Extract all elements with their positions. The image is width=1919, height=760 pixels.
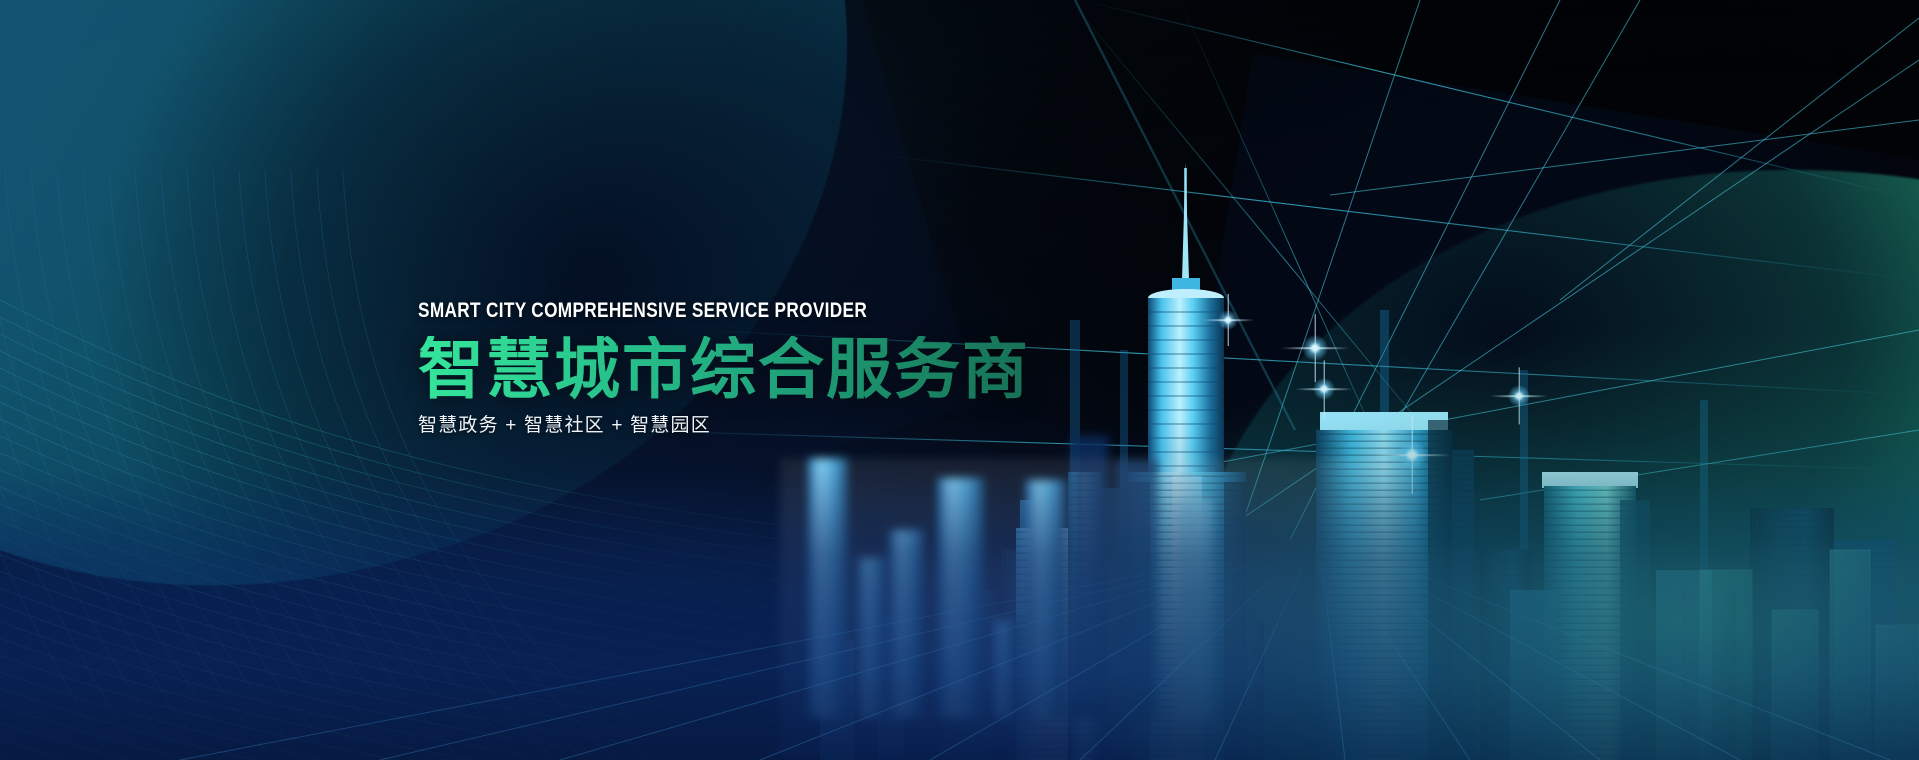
smart-city-hero-banner: SMART CITY COMPREHENSIVE SERVICE PROVIDE… (0, 0, 1919, 760)
banner-eyebrow: SMART CITY COMPREHENSIVE SERVICE PROVIDE… (418, 300, 920, 321)
perspective-ground-grid (0, 470, 1919, 760)
hero-text-block: SMART CITY COMPREHENSIVE SERVICE PROVIDE… (418, 300, 1030, 435)
banner-subline: 智慧政务 + 智慧社区 + 智慧园区 (418, 416, 1030, 435)
banner-headline: 智慧城市综合服务商 (418, 336, 1030, 402)
